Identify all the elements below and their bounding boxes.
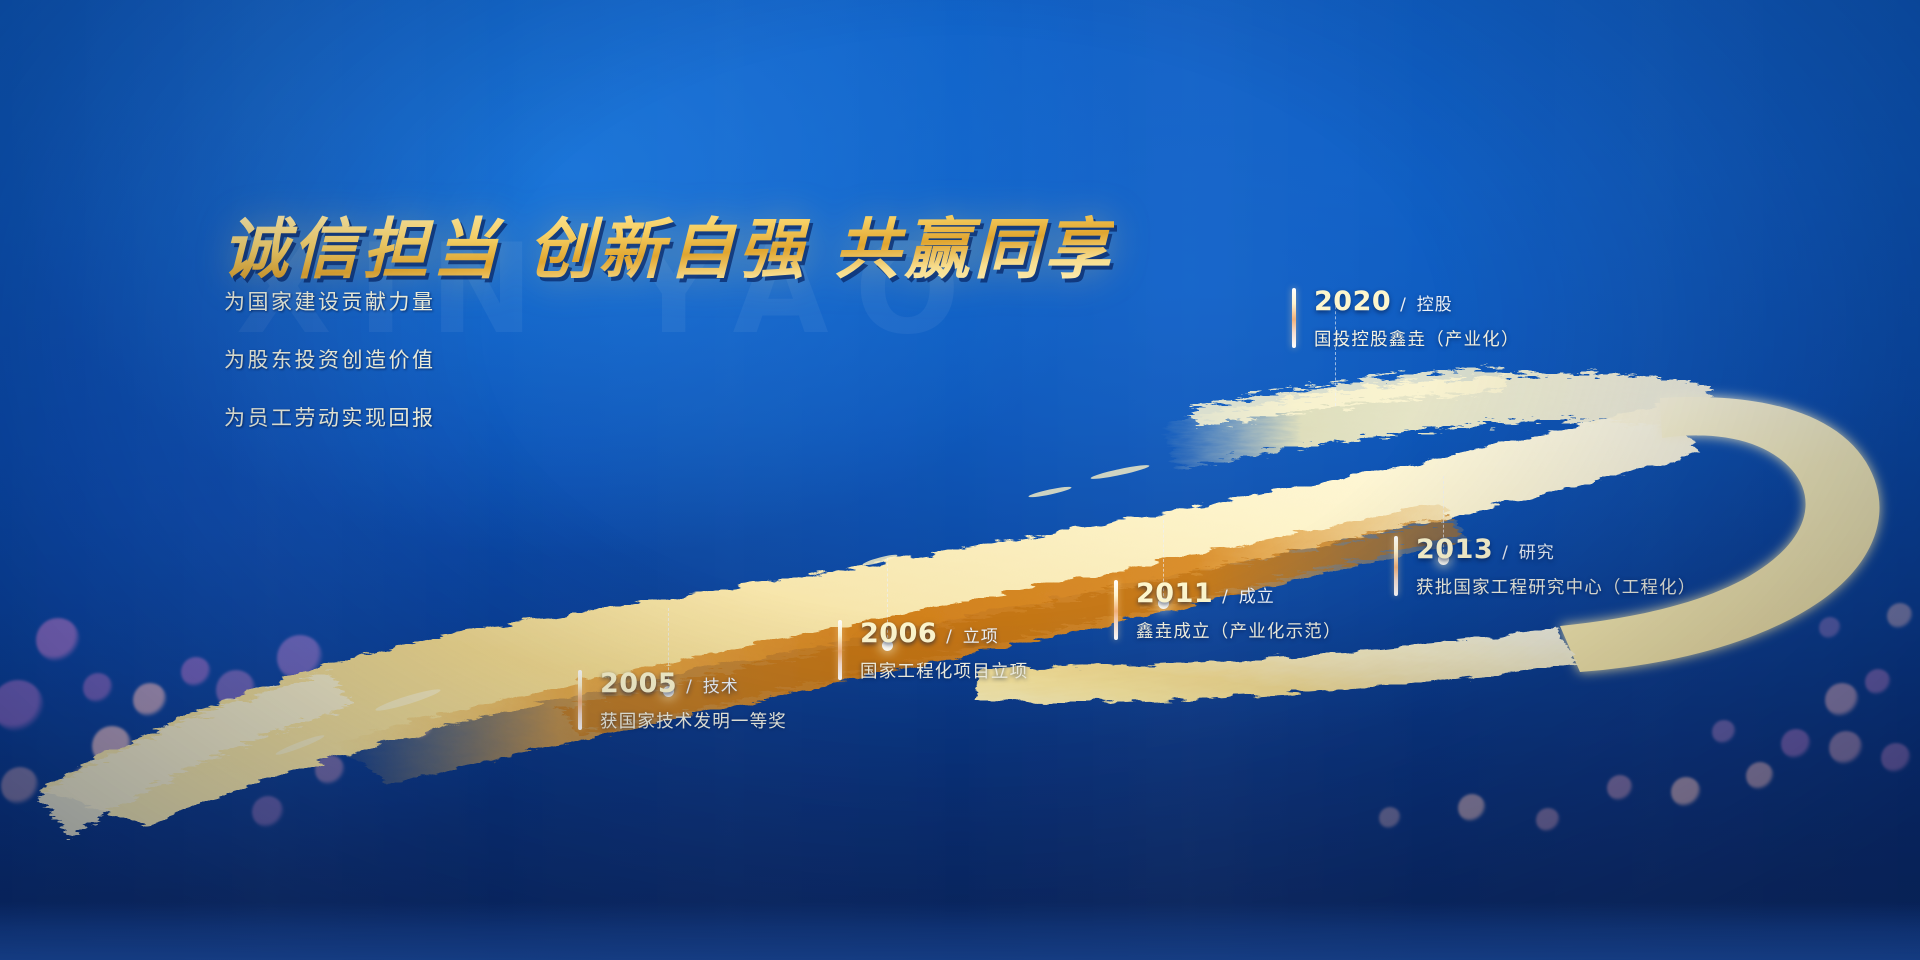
milestone-description: 鑫垚成立（产业化示范）	[1136, 618, 1342, 643]
milestone-2013[interactable]: 2013/ 研究 获批国家工程研究中心（工程化）	[1394, 534, 1697, 599]
bokeh-circle	[223, 735, 257, 769]
bokeh-circle	[252, 796, 284, 828]
bokeh-circle	[92, 726, 132, 766]
banner-stage: XIN YAO 诚信担当创新自强共赢同享 为国家建设贡献力量 为股东投资创造价值…	[0, 0, 1920, 960]
milestone-year: 2020/ 控股	[1314, 286, 1520, 317]
milestone-year: 2006/ 立项	[860, 618, 1028, 649]
subtitle-list: 为国家建设贡献力量 为股东投资创造价值 为员工劳动实现回报	[224, 286, 436, 460]
milestone-tag: 技术	[703, 677, 739, 697]
bokeh-circle	[71, 767, 101, 797]
milestone-2011[interactable]: 2011/ 成立 鑫垚成立（产业化示范）	[1114, 578, 1342, 643]
milestone-marker-bar	[578, 670, 582, 730]
milestone-separator: /	[686, 677, 693, 697]
bokeh-circle	[1825, 683, 1859, 717]
bokeh-circle	[1607, 775, 1633, 801]
milestone-marker-bar	[1292, 288, 1296, 348]
bokeh-circle	[407, 713, 433, 739]
subtitle-line: 为员工劳动实现回报	[224, 402, 436, 432]
milestone-description: 获批国家工程研究中心（工程化）	[1416, 574, 1697, 599]
milestone-year-value: 2013	[1416, 534, 1493, 565]
milestone-description: 获国家技术发明一等奖	[600, 708, 787, 733]
milestone-year: 2005/ 技术	[600, 668, 787, 699]
bokeh-circle	[83, 673, 113, 703]
headline-part-3: 共赢同享	[834, 211, 1114, 288]
page-title: 诚信担当创新自强共赢同享	[222, 196, 1114, 292]
bokeh-circle	[1712, 720, 1736, 744]
bokeh-circle	[1536, 808, 1560, 832]
bokeh-circle	[181, 657, 211, 687]
bokeh-circle	[1865, 669, 1891, 695]
bokeh-circle	[133, 683, 167, 717]
bokeh-circle	[0, 680, 44, 732]
milestone-year-value: 2005	[600, 668, 677, 699]
bokeh-circle	[1671, 777, 1701, 807]
vignette-overlay	[0, 0, 1920, 960]
bokeh-circle	[150, 762, 194, 806]
milestone-2006[interactable]: 2006/ 立项 国家工程化项目立项	[838, 618, 1028, 683]
milestone-tag: 成立	[1239, 587, 1275, 607]
milestone-separator: /	[1400, 295, 1407, 315]
milestone-year: 2013/ 研究	[1416, 534, 1697, 565]
milestone-tag: 控股	[1417, 295, 1453, 315]
bokeh-circle	[36, 618, 80, 662]
bokeh-circle	[1819, 617, 1841, 639]
milestone-marker-bar	[1394, 536, 1398, 596]
bokeh-circle	[216, 670, 256, 710]
milestone-year-value: 2020	[1314, 286, 1391, 317]
milestone-year-value: 2011	[1136, 578, 1213, 609]
milestone-separator: /	[946, 627, 953, 647]
bokeh-circle	[1379, 807, 1401, 829]
bokeh-circle	[1887, 603, 1913, 629]
headline-part-2: 创新自强	[528, 211, 808, 288]
bokeh-circle	[1, 767, 39, 805]
milestone-marker-bar	[1114, 580, 1118, 640]
subtitle-line: 为国家建设贡献力量	[224, 286, 436, 316]
brush-stroke-ribbon	[0, 0, 1920, 960]
milestone-tag: 研究	[1519, 543, 1555, 563]
bottom-gradient-band	[0, 902, 1920, 960]
bokeh-circle	[315, 755, 345, 785]
milestone-marker-bar	[838, 620, 842, 680]
milestone-separator: /	[1222, 587, 1229, 607]
bokeh-circle	[1781, 729, 1811, 759]
bokeh-circle	[1746, 762, 1774, 790]
milestone-2005[interactable]: 2005/ 技术 获国家技术发明一等奖	[578, 668, 787, 733]
milestone-year-value: 2006	[860, 618, 937, 649]
bokeh-circle	[1458, 794, 1486, 822]
bokeh-circle	[278, 698, 306, 726]
headline-part-1: 诚信担当	[222, 211, 502, 288]
bokeh-circle	[1881, 743, 1911, 773]
milestone-separator: /	[1502, 543, 1509, 563]
milestone-description: 国投控股鑫垚（产业化）	[1314, 326, 1520, 351]
bokeh-circle	[340, 682, 376, 718]
milestone-description: 国家工程化项目立项	[860, 658, 1028, 683]
milestone-2020[interactable]: 2020/ 控股 国投控股鑫垚（产业化）	[1292, 286, 1520, 351]
milestone-tag: 立项	[963, 627, 999, 647]
background-light-streaks	[0, 0, 1920, 960]
bokeh-circle	[277, 635, 323, 681]
milestone-year: 2011/ 成立	[1136, 578, 1342, 609]
bokeh-circle	[433, 675, 463, 705]
bokeh-circle	[1829, 731, 1863, 765]
subtitle-line: 为股东投资创造价值	[224, 344, 436, 374]
